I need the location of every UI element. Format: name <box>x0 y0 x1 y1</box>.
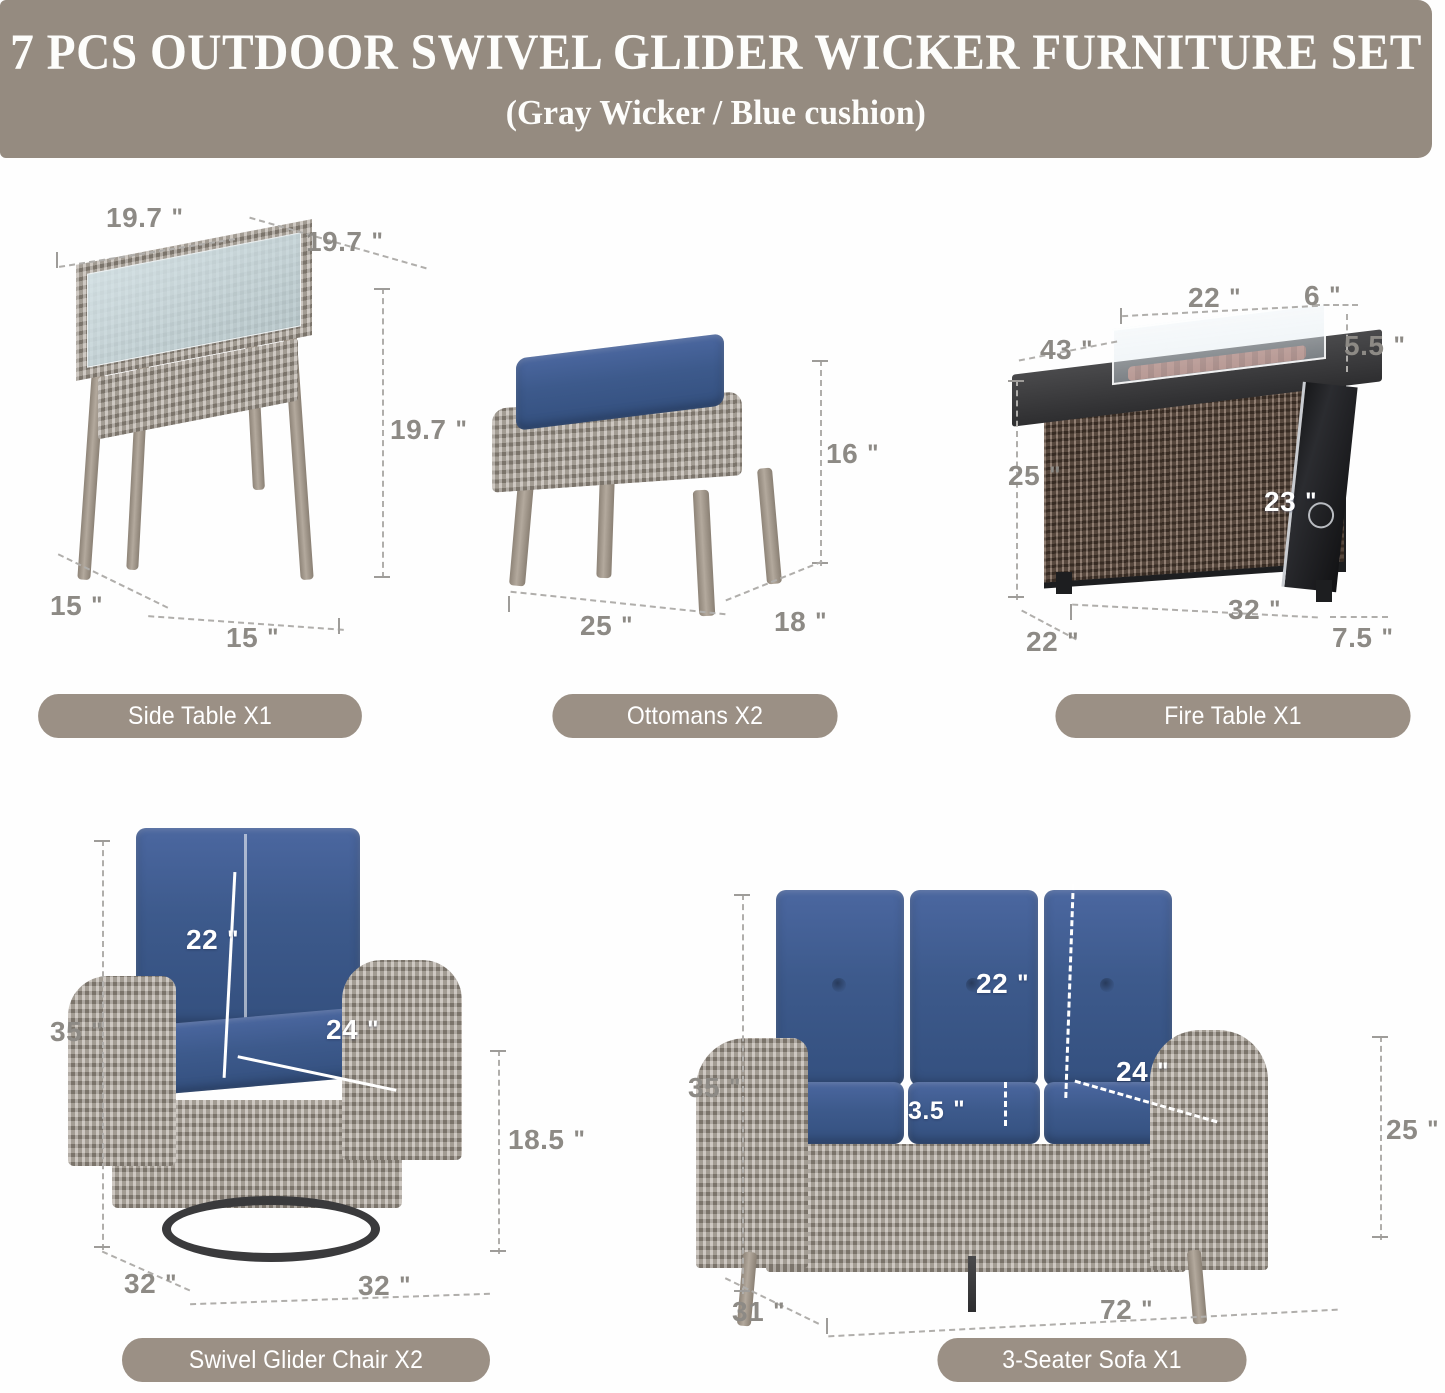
dim-fire-table-door-height: 23" <box>1264 488 1317 516</box>
label-swivel-chair[interactable]: Swivel Glider Chair X2 <box>122 1338 490 1382</box>
sofa-back-cushion <box>1044 890 1172 1086</box>
dim-tick <box>1008 380 1024 382</box>
product-swivel-chair: 35" 22" 24" 18.5" 32" 32" <box>40 800 580 1300</box>
white-dim-line-cushion <box>1004 1082 1007 1126</box>
dim-sofa-seat-width: 24" <box>1116 1058 1169 1086</box>
dim-tick <box>490 1050 506 1052</box>
dim-tick <box>1120 308 1122 324</box>
dim-tick <box>338 618 340 634</box>
label-fire-table[interactable]: Fire Table X1 <box>1055 694 1410 738</box>
dim-fire-table-top-length: 43" <box>1040 336 1093 364</box>
dim-tick <box>1070 604 1072 620</box>
product-ottoman: 16" 25" 18" <box>470 330 870 670</box>
page-subtitle: (Gray Wicker / Blue cushion) <box>506 93 926 133</box>
dim-sofa-depth: 31" <box>732 1298 785 1326</box>
dim-ottoman-width: 25" <box>580 612 633 640</box>
dim-sofa-back-height: 22" <box>976 970 1029 998</box>
dim-fire-table-guard-length: 22" <box>1188 284 1241 312</box>
dim-tick <box>94 840 110 842</box>
dim-tick <box>1372 1036 1388 1038</box>
dim-tick <box>812 360 828 362</box>
dim-tick <box>490 1250 506 1252</box>
label-sofa[interactable]: 3-Seater Sofa X1 <box>937 1338 1246 1382</box>
dim-chair-depth: 32" <box>124 1270 177 1298</box>
dim-tick <box>374 288 390 290</box>
dim-line-seat-height <box>498 1050 500 1254</box>
dim-fire-table-base-length: 32" <box>1228 596 1281 624</box>
dim-side-table-height: 19.7" <box>390 416 467 444</box>
dim-side-table-top-depth: 19.7" <box>306 228 383 256</box>
dim-tick <box>826 1318 828 1334</box>
dim-ottoman-depth: 18" <box>774 608 827 636</box>
dim-side-table-top-width: 19.7" <box>106 204 183 232</box>
dim-side-table-base-depth: 15" <box>50 592 103 620</box>
product-side-table: 19.7" 19.7" 19.7" 15" 15" <box>20 180 440 680</box>
dim-fire-table-height: 25" <box>1008 462 1061 490</box>
sofa-base <box>766 1144 1186 1272</box>
dim-fire-table-guard-gap: 6" <box>1304 282 1341 310</box>
dim-line-height <box>742 894 744 1294</box>
swivel-base-ring <box>162 1196 380 1262</box>
sofa-illustration <box>680 870 1440 1310</box>
page-title: 7 PCS OUTDOOR SWIVEL GLIDER WICKER FURNI… <box>10 28 1422 79</box>
label-ottomans[interactable]: Ottomans X2 <box>552 694 837 738</box>
product-sofa: 35" 22" 24" 3.5" 25" 31" 72" <box>680 870 1440 1310</box>
dim-fire-table-depth: 22" <box>1026 628 1079 656</box>
dim-chair-seat-height: 18.5" <box>508 1126 585 1154</box>
dim-tick <box>1372 1236 1388 1238</box>
dim-chair-width: 32" <box>358 1272 411 1300</box>
dim-sofa-arm-height: 25" <box>1386 1116 1439 1144</box>
dim-line-door-w <box>1330 616 1388 618</box>
dim-line-width <box>828 1309 1337 1338</box>
infographic-page: 7 PCS OUTDOOR SWIVEL GLIDER WICKER FURNI… <box>0 0 1445 1393</box>
dim-tick <box>1008 596 1024 598</box>
dim-chair-seat-width: 24" <box>326 1016 379 1044</box>
dim-line-height <box>820 360 822 566</box>
dim-sofa-width: 72" <box>1100 1296 1153 1324</box>
dim-fire-table-door-width: 7.5" <box>1332 624 1393 652</box>
dim-side-table-base-width: 15" <box>226 624 279 652</box>
dim-line-arm-height <box>1380 1036 1382 1240</box>
label-side-table[interactable]: Side Table X1 <box>38 694 362 738</box>
dim-line-height <box>382 288 384 578</box>
dim-tick <box>374 576 390 578</box>
chair-arm-right <box>342 960 462 1160</box>
product-fire-table: 43" 22" 6" 5.5" 25" 23" 32" 22" 7.5" <box>1000 280 1440 670</box>
dim-sofa-cushion-thickness: 3.5" <box>908 1098 965 1124</box>
dim-sofa-height: 35" <box>688 1074 741 1102</box>
dim-tick <box>94 1246 110 1248</box>
dim-chair-height: 35" <box>50 1018 103 1046</box>
header-banner: 7 PCS OUTDOOR SWIVEL GLIDER WICKER FURNI… <box>0 0 1432 158</box>
dim-tick <box>56 252 58 268</box>
dim-tick <box>734 894 750 896</box>
dim-fire-table-guard-height: 5.5" <box>1344 332 1405 360</box>
dim-tick <box>508 596 510 612</box>
dim-ottoman-height: 16" <box>826 440 879 468</box>
dim-chair-back-height: 22" <box>186 926 239 954</box>
chair-arm-left <box>68 976 176 1166</box>
